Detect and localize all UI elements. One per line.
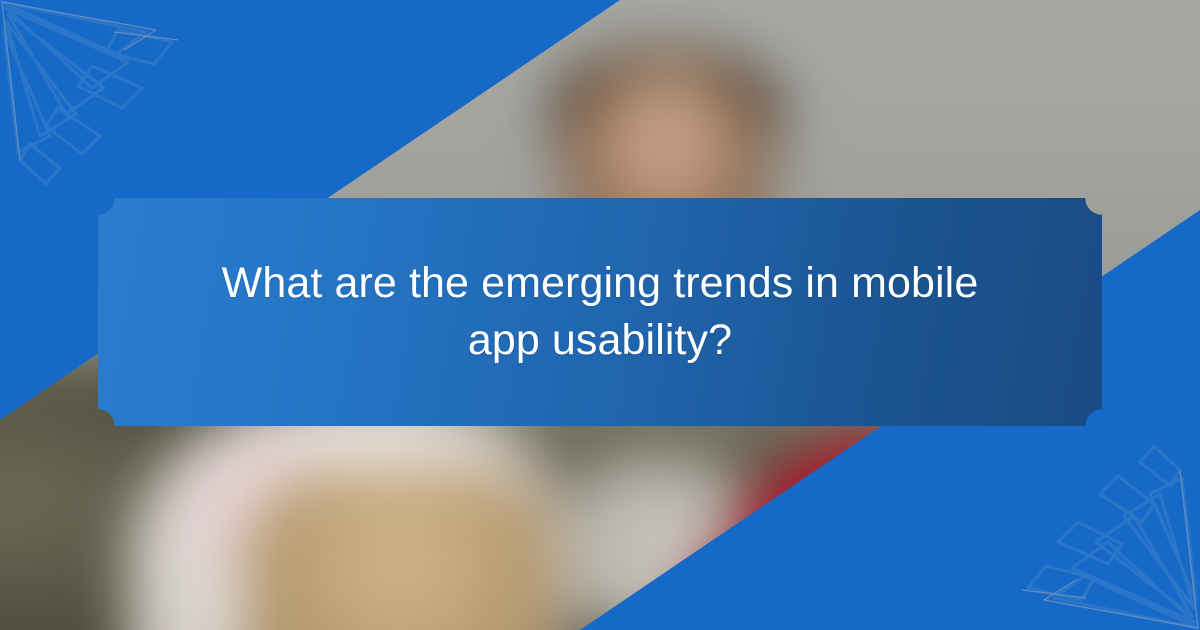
photo-red-sleeve-region	[689, 532, 1132, 630]
photo-tan-trousers-region	[246, 470, 556, 630]
page-title: What are the emerging trends in mobile a…	[205, 255, 995, 369]
share-card: What are the emerging trends in mobile a…	[0, 0, 1200, 630]
headline-banner: What are the emerging trends in mobile a…	[98, 198, 1102, 426]
